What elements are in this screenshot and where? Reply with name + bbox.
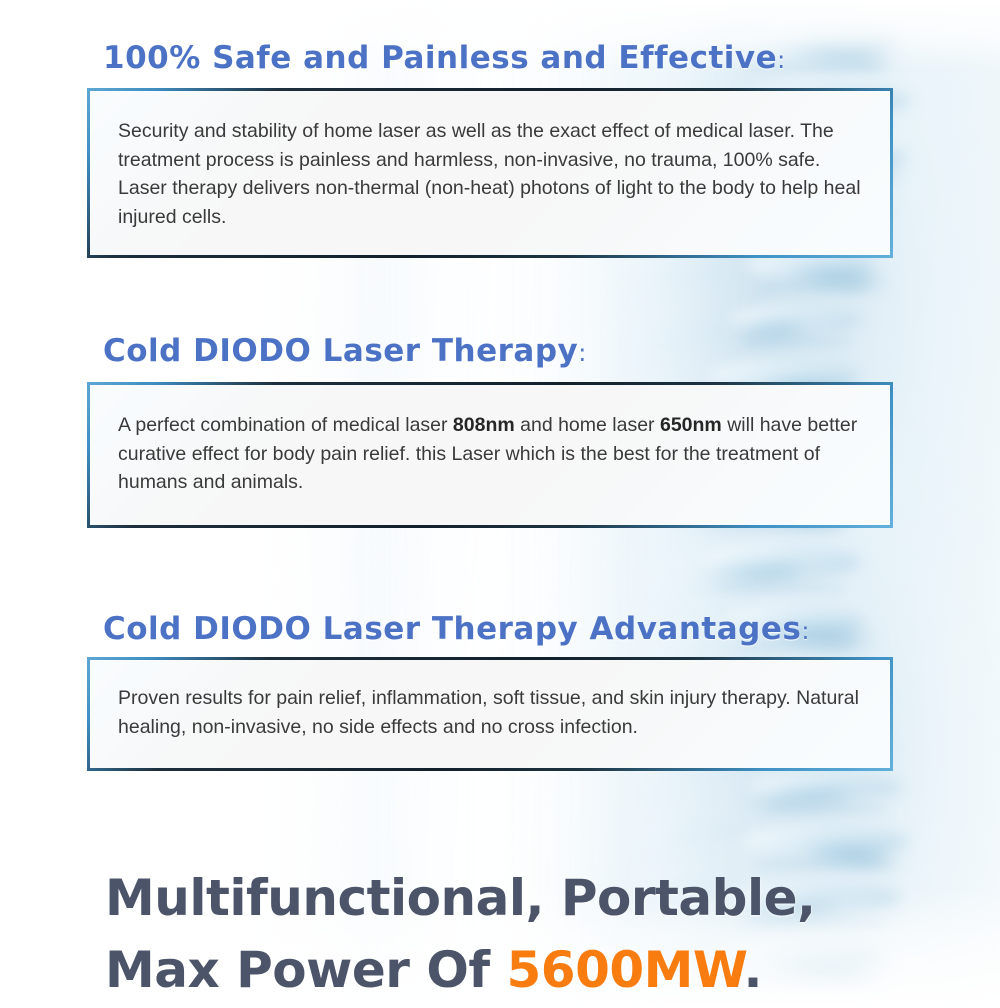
bottom-headline: Multifunctional, Portable, Max Power Of …	[105, 862, 816, 1006]
section-2-panel: A perfect combination of medical laser 8…	[87, 382, 893, 528]
headline-line-1: Multifunctional, Portable,	[105, 862, 816, 934]
section-2-body-part-2: and home laser	[515, 414, 660, 436]
section-2-body-bold-808nm: 808nm	[453, 414, 515, 436]
section-1-body-text: Security and stability of home laser as …	[118, 117, 862, 231]
section-2-body-text: A perfect combination of medical laser 8…	[118, 411, 862, 497]
section-3-panel-inner: Proven results for pain relief, inflamma…	[90, 660, 890, 768]
headline-line-2-suffix: .	[743, 941, 762, 999]
section-2-panel-inner: A perfect combination of medical laser 8…	[90, 385, 890, 525]
section-1-heading: 100% Safe and Painless and Effective:	[103, 40, 785, 76]
section-2-heading-text: Cold DIODO Laser Therapy	[103, 333, 578, 369]
headline-line-2: Max Power Of 5600MW.	[105, 934, 816, 1006]
section-2-body-part-1: A perfect combination of medical laser	[118, 414, 453, 436]
vertebra-gap-shadow	[762, 804, 889, 817]
section-3-panel: Proven results for pain relief, inflamma…	[87, 657, 893, 771]
section-3-heading-text: Cold DIODO Laser Therapy Advantages	[103, 611, 801, 647]
section-1-panel: Security and stability of home laser as …	[87, 88, 893, 258]
section-2-heading: Cold DIODO Laser Therapy:	[103, 333, 586, 369]
section-3-body-text: Proven results for pain relief, inflamma…	[118, 684, 862, 741]
section-2-heading-colon: :	[578, 339, 586, 367]
section-2-body-bold-650nm: 650nm	[660, 414, 722, 436]
vertebra-gap-shadow	[756, 282, 864, 295]
vertebra-shape-back	[619, 258, 734, 284]
vertebra-gap-shadow	[740, 337, 852, 350]
section-3-heading: Cold DIODO Laser Therapy Advantages:	[103, 611, 809, 647]
headline-power-value: 5600MW	[506, 941, 743, 999]
section-1-heading-text: 100% Safe and Painless and Effective	[103, 40, 777, 76]
vertebra-shape-back	[632, 816, 749, 842]
section-3-heading-colon: :	[801, 617, 809, 645]
section-1-panel-inner: Security and stability of home laser as …	[90, 91, 890, 255]
headline-line-2-prefix: Max Power Of	[105, 941, 506, 999]
vertebra-shape-back	[649, 568, 755, 594]
section-1-heading-colon: :	[777, 46, 785, 74]
